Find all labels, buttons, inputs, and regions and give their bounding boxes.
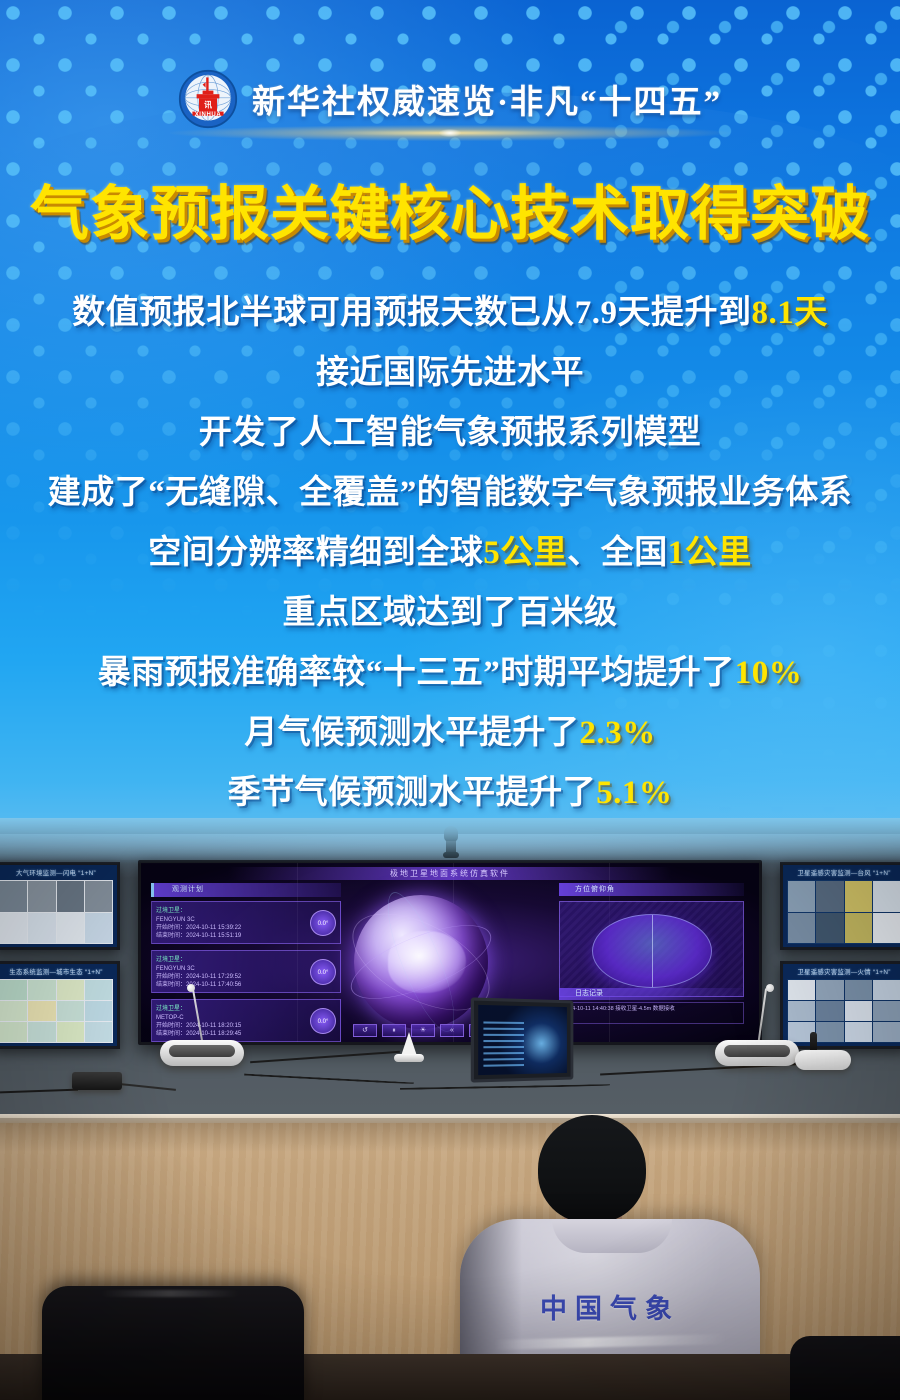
toolbar-refresh-icon[interactable]: ↺	[353, 1024, 377, 1037]
desk-microphone-center[interactable]	[392, 1032, 426, 1062]
jacket-collar	[552, 1219, 672, 1253]
satellite-list: 过境卫星：FENGYUN 3C开始时间：2024-10-11 15:39:22结…	[151, 901, 341, 1042]
microphone-capsule	[187, 984, 195, 992]
header-shine-dot	[439, 129, 461, 137]
body-text: 接近国际先进水平	[316, 355, 584, 391]
body-lines: 数值预报北半球可用预报天数已从7.9天提升到8.1天接近国际先进水平开发了人工智…	[0, 283, 900, 823]
ceiling-light-strip	[0, 834, 900, 860]
body-text: 暴雨预报准确率较“十三五”时期平均提升了	[98, 655, 735, 691]
slide-cell	[845, 980, 872, 1000]
satellite-end-time: 结束时间：2024-10-11 17:40:56	[156, 981, 336, 989]
slide-cell	[788, 913, 815, 944]
monitor-image-grid	[0, 881, 112, 943]
satellite-tag: 过境卫星：	[156, 954, 336, 963]
monitor-image-grid	[788, 980, 900, 1042]
slide-cell	[85, 881, 112, 912]
slide-cell	[85, 1001, 112, 1021]
satellite-start-time: 开始时间：2024-10-11 18:20:15	[156, 1022, 336, 1030]
slide-cell	[873, 1001, 900, 1021]
jacket-logo-text: 中国气象	[460, 1287, 760, 1326]
highlight-value: 10%	[735, 655, 803, 691]
slide-cell	[28, 1022, 55, 1042]
slide-cell	[28, 881, 55, 912]
side-monitor-right-bottom: 卫星遥感灾害监测—火情 “1+N”	[780, 961, 900, 1049]
side-monitor-left-top: 大气环境监测—闪电 “1+N”	[0, 862, 120, 950]
slide-cell	[845, 1022, 872, 1042]
satellite-name: FENGYUN 3C	[156, 965, 336, 973]
monitor-slide-title: 卫星遥感灾害监测—台风 “1+N”	[787, 868, 900, 879]
body-line: 建成了“无缝隙、全覆盖”的智能数字气象预报业务体系	[0, 463, 900, 523]
slide-cell	[57, 913, 84, 944]
body-line: 暴雨预报准确率较“十三五”时期平均提升了10%	[0, 643, 900, 703]
person-head	[538, 1115, 646, 1223]
highlight-value: 5公里	[483, 535, 567, 571]
slide-cell	[85, 913, 112, 944]
body-line: 空间分辨率精细到全球5公里、全国1公里	[0, 523, 900, 583]
slide-cell	[873, 980, 900, 1000]
office-chair-right	[790, 1336, 900, 1400]
satellite-end-time: 结束时间：2024-10-11 15:51:19	[156, 932, 336, 940]
page-title: 气象预报关键核心技术取得突破	[0, 166, 900, 251]
body-text: 建成了“无缝隙、全覆盖”的智能数字气象预报业务体系	[48, 475, 853, 511]
slide-cell	[0, 980, 27, 1000]
body-text: 空间分辨率精细到全球	[148, 535, 483, 571]
satellite-tag: 过境卫星：	[156, 1003, 336, 1012]
radar-plot	[559, 901, 744, 997]
satellite-pass-card: 过境卫星：METOP-C开始时间：2024-10-11 18:20:15结束时间…	[151, 999, 341, 1042]
video-wall-title: 极地卫星地面系统仿真软件	[228, 867, 673, 880]
slide-cell	[57, 980, 84, 1000]
monitor-slide: 卫星遥感灾害监测—台风 “1+N”	[783, 865, 900, 947]
monitor-image-grid	[0, 980, 112, 1042]
conference-mic-pod[interactable]	[160, 1040, 244, 1066]
svg-text:讯: 讯	[204, 99, 212, 109]
body-line: 重点区域达到了百米级	[0, 583, 900, 643]
slide-cell	[85, 980, 112, 1000]
slide-cell	[0, 913, 27, 944]
led-video-wall: 极地卫星地面系统仿真软件 观测计划 过境卫星：FENGYUN 3C开始时间：20…	[138, 860, 762, 1045]
ceiling-camera-icon	[443, 826, 459, 860]
satellite-name: FENGYUN 3C	[156, 916, 336, 924]
slide-cell	[816, 1022, 843, 1042]
desk-shadow	[0, 1118, 900, 1152]
slide-cell	[873, 881, 900, 912]
satellite-end-time: 结束时间：2024-10-11 18:29:45	[156, 1030, 336, 1038]
satellite-schedule-panel: 观测计划 过境卫星：FENGYUN 3C开始时间：2024-10-11 15:3…	[151, 883, 341, 1028]
slide-cell	[873, 1022, 900, 1042]
camera-stand	[446, 841, 456, 853]
wireless-base-station	[795, 1050, 851, 1070]
monitor-slide-title: 生态系统监测—城市生态 “1+N”	[0, 967, 113, 978]
slide-cell	[0, 1001, 27, 1021]
monitor-slide: 生态系统监测—城市生态 “1+N”	[0, 964, 117, 1046]
body-text: 重点区域达到了百米级	[283, 595, 618, 631]
satellite-start-time: 开始时间：2024-10-11 17:29:52	[156, 973, 336, 981]
slide-cell	[816, 881, 843, 912]
body-text: 月气候预测水平提升了	[244, 715, 579, 751]
satellite-pass-card: 过境卫星：FENGYUN 3C开始时间：2024-10-11 17:29:52结…	[151, 950, 341, 993]
monitor-slide-body	[0, 880, 113, 944]
microphone-base	[394, 1054, 424, 1062]
slide-cell	[816, 1001, 843, 1021]
laptop-lid	[471, 997, 574, 1082]
slide-cell	[873, 913, 900, 944]
microphone-capsule	[766, 984, 774, 992]
toolbar-prev-icon[interactable]: «	[440, 1024, 464, 1037]
slide-cell	[28, 913, 55, 944]
highlight-value: 5.1%	[596, 775, 672, 811]
satellite-start-time: 开始时间：2024-10-11 15:39:22	[156, 924, 336, 932]
laptop-screen-rows	[483, 1021, 524, 1070]
radar-panel-title: 方位俯仰角	[559, 883, 744, 896]
slide-cell	[28, 1001, 55, 1021]
monitor-slide: 大气环境监测—闪电 “1+N”	[0, 865, 117, 947]
satellite-elevation-badge: 0.0°	[310, 959, 336, 985]
radar-dome	[592, 914, 712, 988]
slide-cell	[845, 913, 872, 944]
monitor-slide-body	[0, 979, 113, 1043]
body-line: 季节气候预测水平提升了5.1%	[0, 763, 900, 823]
slide-cell	[57, 881, 84, 912]
logo-wordmark: XINHUA	[195, 112, 222, 118]
slide-cell	[0, 881, 27, 912]
body-text: 数值预报北半球可用预报天数已从7.9天提升到	[72, 295, 751, 331]
body-line: 月气候预测水平提升了2.3%	[0, 703, 900, 763]
camera-base	[443, 852, 459, 858]
slide-cell	[816, 980, 843, 1000]
body-text: 开发了人工智能气象预报系列模型	[199, 415, 702, 451]
camera-body	[444, 826, 458, 842]
conference-mic-pod[interactable]	[715, 1040, 799, 1066]
chair-highlight	[100, 1290, 240, 1297]
antenna-icon	[810, 1032, 817, 1052]
slide-cell	[788, 980, 815, 1000]
poster-root: 讯 XINHUA 新华社权威速览·非凡“十四五” 气象预报关键核心技术取得突破 …	[0, 0, 900, 1400]
monitor-image-grid	[788, 881, 900, 943]
satellite-panel-title: 观测计划	[151, 883, 341, 897]
monitor-slide-body	[787, 880, 900, 944]
satellite-pass-card: 过境卫星：FENGYUN 3C开始时间：2024-10-11 15:39:22结…	[151, 901, 341, 944]
slide-cell	[816, 913, 843, 944]
monitor-slide-title: 卫星遥感灾害监测—火情 “1+N”	[787, 967, 900, 978]
satellite-elevation-badge: 0.0°	[310, 910, 336, 936]
monitor-slide-title: 大气环境监测—闪电 “1+N”	[0, 868, 113, 879]
highlight-value: 1公里	[668, 535, 752, 571]
control-room-photo: 大气环境监测—闪电 “1+N” 生态系统监测—	[0, 818, 900, 1400]
body-line: 接近国际先进水平	[0, 343, 900, 403]
body-text: 、全国	[567, 535, 668, 571]
power-adapter	[72, 1072, 122, 1090]
highlight-value: 8.1天	[752, 295, 828, 331]
monitor-slide-body	[787, 979, 900, 1043]
satellite-elevation-badge: 0.0°	[310, 1008, 336, 1034]
highlight-value: 2.3%	[579, 715, 655, 751]
side-monitor-right-top: 卫星遥感灾害监测—台风 “1+N”	[780, 862, 900, 950]
slide-cell	[845, 881, 872, 912]
laptop[interactable]	[472, 999, 592, 1091]
laptop-screen	[478, 1005, 567, 1075]
satellite-tag: 过境卫星：	[156, 905, 336, 914]
body-line: 开发了人工智能气象预报系列模型	[0, 403, 900, 463]
slide-cell	[0, 1022, 27, 1042]
slide-cell	[845, 1001, 872, 1021]
slide-cell	[788, 1001, 815, 1021]
xinhua-logo-icon: 讯 XINHUA	[178, 69, 238, 129]
microphone-cone	[401, 1032, 417, 1056]
slide-cell	[788, 881, 815, 912]
slide-cell	[57, 1022, 84, 1042]
slide-cell	[28, 980, 55, 1000]
monitor-slide: 卫星遥感灾害监测—火情 “1+N”	[783, 964, 900, 1046]
header-title: 新华社权威速览·非凡“十四五”	[252, 75, 722, 123]
body-text: 季节气候预测水平提升了	[228, 775, 597, 811]
slide-cell	[85, 1022, 112, 1042]
side-monitor-left-bottom: 生态系统监测—城市生态 “1+N”	[0, 961, 120, 1049]
satellite-name: METOP-C	[156, 1014, 336, 1022]
office-chair	[42, 1286, 304, 1400]
body-line: 数值预报北半球可用预报天数已从7.9天提升到8.1天	[0, 283, 900, 343]
slide-cell	[57, 1001, 84, 1021]
